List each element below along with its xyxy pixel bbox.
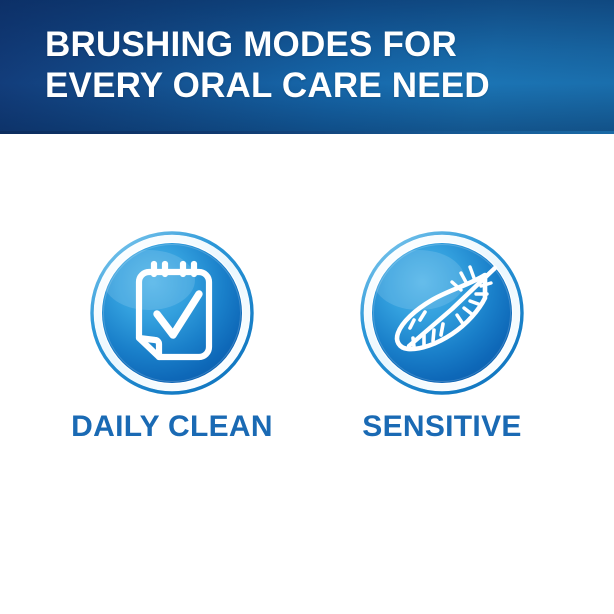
mode-item-daily-clean[interactable]: DAILY CLEAN: [82, 228, 262, 442]
infographic-root: BRUSHING MODES FOR EVERY ORAL CARE NEED: [0, 0, 614, 614]
feather-icon: [357, 228, 527, 398]
mode-label-daily-clean: DAILY CLEAN: [71, 412, 273, 442]
daily-clean-badge: [87, 228, 257, 398]
header-banner: BRUSHING MODES FOR EVERY ORAL CARE NEED: [0, 0, 614, 134]
mode-item-sensitive[interactable]: SENSITIVE: [352, 228, 532, 442]
brushing-modes-row: DAILY CLEAN: [0, 228, 614, 442]
page-title: BRUSHING MODES FOR EVERY ORAL CARE NEED: [45, 25, 585, 107]
mode-label-sensitive: SENSITIVE: [362, 412, 521, 442]
calendar-check-icon: [87, 228, 257, 398]
sensitive-badge: [357, 228, 527, 398]
